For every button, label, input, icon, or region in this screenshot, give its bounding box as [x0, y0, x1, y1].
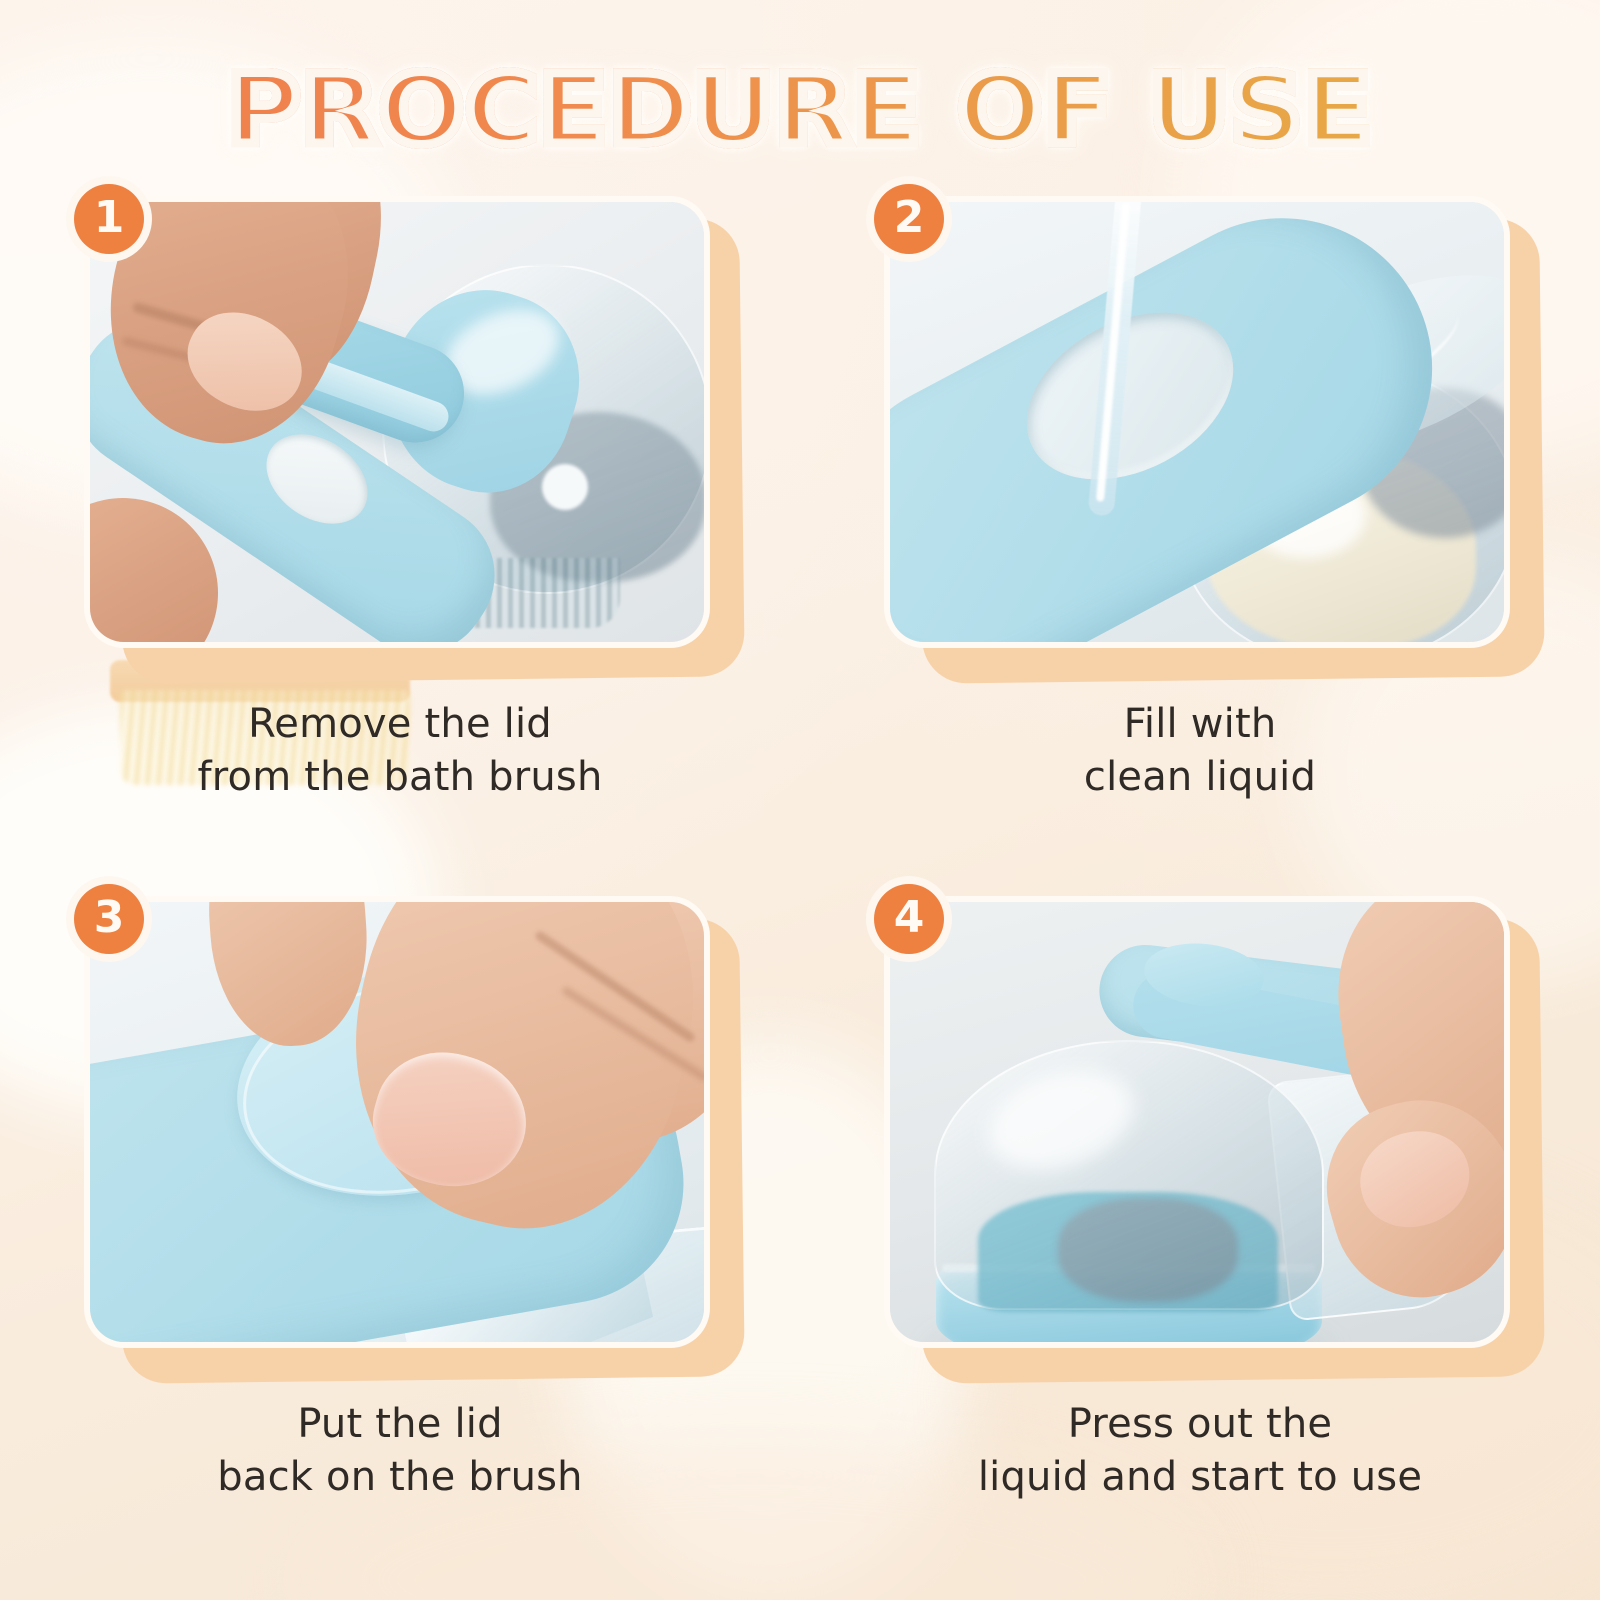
step-2: 2 Fill with clean liquid — [800, 196, 1600, 896]
step-3-badge: 3 — [66, 876, 152, 962]
step-2-caption: Fill with clean liquid — [1084, 698, 1316, 804]
page-title: PROCEDURE OF USE — [227, 62, 1373, 158]
step-3-card-area: 3 — [84, 896, 716, 1356]
step-2-badge: 2 — [866, 176, 952, 262]
step-4-photo-card[interactable] — [884, 896, 1510, 1348]
step-4-badge: 4 — [866, 876, 952, 962]
dome-highlight-dot — [542, 464, 588, 510]
dome-inner-shadow — [1058, 1198, 1238, 1302]
step-1: 1 Remove the lid from the bath brush — [0, 196, 800, 896]
step-1-photo — [90, 202, 704, 642]
step-2-badge-number: 2 — [874, 184, 944, 254]
step-3-photo — [90, 902, 704, 1342]
procedure-steps-grid: 1 Remove the lid from the bath brush — [0, 196, 1600, 1596]
step-1-card-area: 1 — [84, 196, 716, 656]
step-2-photo — [890, 202, 1504, 642]
step-4-card-area: 4 — [884, 896, 1516, 1356]
step-1-caption: Remove the lid from the bath brush — [198, 698, 603, 804]
step-1-photo-card[interactable] — [84, 196, 710, 648]
step-2-photo-card[interactable] — [884, 196, 1510, 648]
step-3: 3 Put the lid back on the brush — [0, 896, 800, 1596]
step-4-badge-number: 4 — [874, 884, 944, 954]
step-4-photo — [890, 902, 1504, 1342]
step-3-photo-card[interactable] — [84, 896, 710, 1348]
step-3-caption: Put the lid back on the brush — [217, 1398, 582, 1504]
step-4: 4 Press out the liquid and start to use — [800, 896, 1600, 1596]
step-3-badge-number: 3 — [74, 884, 144, 954]
step-1-badge: 1 — [66, 176, 152, 262]
page-title-wrapper: PROCEDURE OF USE — [0, 62, 1600, 158]
step-2-card-area: 2 — [884, 196, 1516, 656]
step-1-badge-number: 1 — [74, 184, 144, 254]
step-4-caption: Press out the liquid and start to use — [978, 1398, 1422, 1504]
